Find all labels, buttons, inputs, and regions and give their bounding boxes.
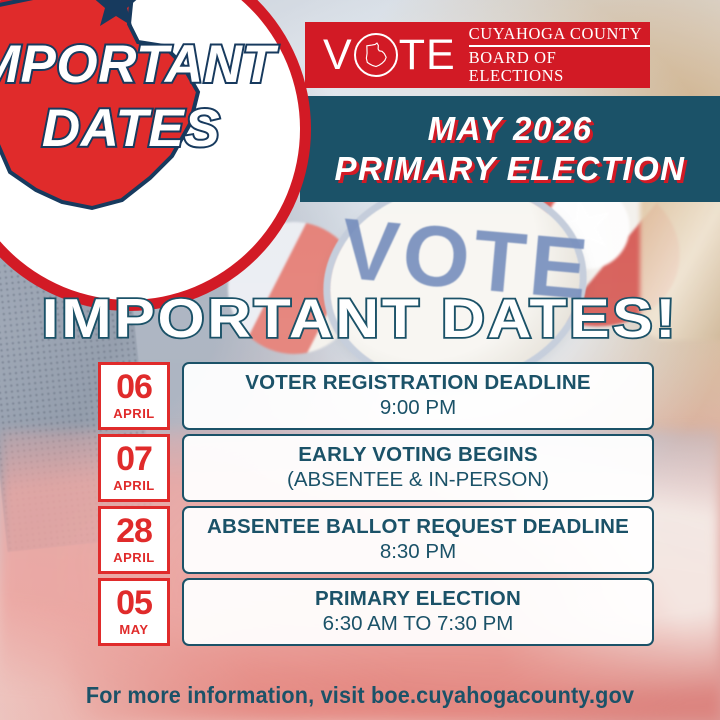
election-date: MAY 2026 <box>428 112 593 147</box>
date-badge: 07 APRIL <box>98 434 170 502</box>
date-detail-panel: PRIMARY ELECTION 6:30 AM TO 7:30 PM <box>182 578 654 646</box>
date-badge: 06 APRIL <box>98 362 170 430</box>
vote-wordmark: V T E <box>323 33 456 77</box>
event-detail: (ABSENTEE & IN-PERSON) <box>287 469 549 492</box>
vote-logo: V T E CUYAHOGA COUNTY BOARD OF ELECTIONS <box>305 25 650 85</box>
date-month: MAY <box>119 622 148 637</box>
vote-letter-v: V <box>323 34 353 77</box>
event-detail: 9:00 PM <box>380 397 456 420</box>
page-title: IMPORTANT DATES! <box>0 286 720 350</box>
date-row: 07 APRIL EARLY VOTING BEGINS (ABSENTEE &… <box>0 434 720 502</box>
date-month: APRIL <box>113 478 155 493</box>
date-detail-panel: ABSENTEE BALLOT REQUEST DEADLINE 8:30 PM <box>182 506 654 574</box>
date-row: 05 MAY PRIMARY ELECTION 6:30 AM TO 7:30 … <box>0 578 720 646</box>
org-line-board: BOARD OF ELECTIONS <box>469 49 650 85</box>
date-month: APRIL <box>113 550 155 565</box>
event-title: ABSENTEE BALLOT REQUEST DEADLINE <box>207 516 629 539</box>
vote-letter-e: E <box>426 34 456 77</box>
header-teal-banner: MAY 2026 PRIMARY ELECTION <box>300 96 720 202</box>
ohio-state-shape <box>0 0 256 254</box>
org-divider <box>469 45 650 47</box>
date-detail-panel: VOTER REGISTRATION DEADLINE 9:00 PM <box>182 362 654 430</box>
date-month: APRIL <box>113 406 155 421</box>
header-red-banner: V T E CUYAHOGA COUNTY BOARD OF ELECTIONS <box>305 22 650 88</box>
vote-letter-t: T <box>399 34 426 77</box>
event-title: VOTER REGISTRATION DEADLINE <box>245 372 591 395</box>
election-type: PRIMARY ELECTION <box>335 152 686 187</box>
date-day: 05 <box>116 587 152 619</box>
ohio-state-outline-icon <box>365 42 388 68</box>
event-detail: 6:30 AM TO 7:30 PM <box>323 613 514 636</box>
footer-info: For more information, visit boe.cuyahoga… <box>22 682 699 709</box>
date-day: 07 <box>116 443 152 475</box>
organization-name: CUYAHOGA COUNTY BOARD OF ELECTIONS <box>469 25 650 85</box>
date-badge: 28 APRIL <box>98 506 170 574</box>
important-dates-list: 06 APRIL VOTER REGISTRATION DEADLINE 9:0… <box>0 362 720 650</box>
poster: ★ VOTE V T E CUYAHOGA COUNTY BO <box>0 0 720 720</box>
event-detail: 8:30 PM <box>380 541 456 564</box>
date-day: 28 <box>116 515 152 547</box>
date-badge: 05 MAY <box>98 578 170 646</box>
date-day: 06 <box>116 371 152 403</box>
date-detail-panel: EARLY VOTING BEGINS (ABSENTEE & IN-PERSO… <box>182 434 654 502</box>
ohio-circle-icon <box>354 33 398 77</box>
org-line-county: CUYAHOGA COUNTY <box>469 25 650 43</box>
date-row: 06 APRIL VOTER REGISTRATION DEADLINE 9:0… <box>0 362 720 430</box>
date-row: 28 APRIL ABSENTEE BALLOT REQUEST DEADLIN… <box>0 506 720 574</box>
event-title: EARLY VOTING BEGINS <box>298 444 538 467</box>
event-title: PRIMARY ELECTION <box>315 588 521 611</box>
